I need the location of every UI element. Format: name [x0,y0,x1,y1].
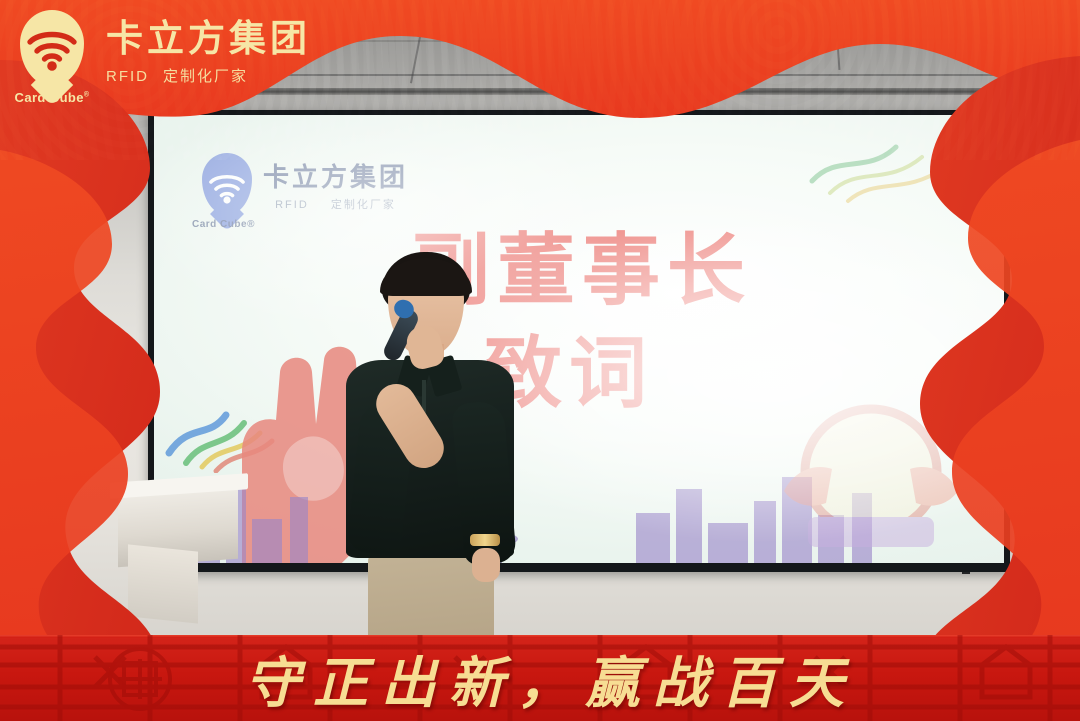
brand-tagline: RFID定制化厂家 [106,65,311,86]
wifi-pin-icon [202,153,252,215]
wifi-icon [20,18,84,76]
brand-wordmark: Card Cube® [12,90,92,105]
slide-tagline-left: RFID [275,199,309,211]
confetti-ribbon-icon [804,135,964,205]
lectern-base [128,544,198,623]
speaker-hand-right [472,548,500,582]
projection-screen-frame: 卡立方集团 RFID 定制化厂家 Card Cube® 副董事长 致词 [148,110,1010,572]
brand-mark: Card Cube® [12,8,92,108]
brand-logo: Card Cube® 卡立方集团 RFID定制化厂家 [12,8,311,108]
brand-text: 卡立方集团 RFID定制化厂家 [106,8,311,86]
slide-logo: 卡立方集团 RFID 定制化厂家 [202,153,408,215]
slide-title-line2: 致词 [484,322,892,425]
speaker [330,252,530,650]
slogan-text: 守正出新，赢战百天 [0,638,1080,718]
brand-name: 卡立方集团 [106,20,311,57]
slide-brand-tagline: RFID 定制化厂家 [263,196,408,212]
wall-poster [1022,452,1052,504]
event-photo: 卡立方集团 RFID 定制化厂家 Card Cube® 副董事长 致词 [0,0,1080,721]
slide-tagline-right: 定制化厂家 [331,199,396,211]
brand-tagline-right: 定制化厂家 [163,68,248,85]
wall-poster-band [1023,453,1051,462]
slogan-banner: 守正出新，赢战百天 [0,635,1080,721]
projection-screen: 卡立方集团 RFID 定制化厂家 Card Cube® 副董事长 致词 [154,115,1004,563]
wristwatch [470,534,500,546]
poster-canvas: 卡立方集团 RFID 定制化厂家 Card Cube® 副董事长 致词 [0,0,1080,721]
slide-brand-name: 卡立方集团 [263,157,408,194]
slide-logo-wordmark: Card Cube® [192,219,255,230]
brand-tagline-left: RFID [106,68,149,85]
slide-logo-text: 卡立方集团 RFID 定制化厂家 [263,157,408,212]
